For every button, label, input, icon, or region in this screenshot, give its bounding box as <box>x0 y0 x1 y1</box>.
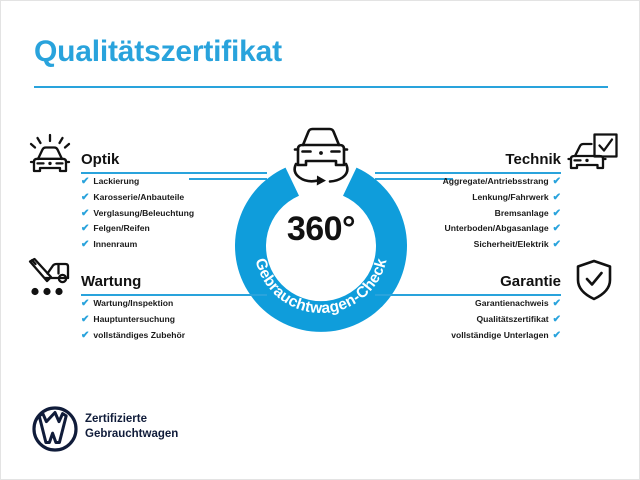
check-icon: ✔ <box>81 221 89 237</box>
list-item: Sicherheit/Elektrik✔ <box>375 237 561 253</box>
section-optik-header: Optik <box>81 144 267 174</box>
list-item-label: vollständiges Zubehör <box>93 330 185 340</box>
check-icon: ✔ <box>81 206 89 222</box>
section-optik: Optik ✔Lackierung ✔Karosserie/Anbauteile… <box>81 144 267 253</box>
section-wartung-header: Wartung <box>81 266 267 296</box>
check-icon: ✔ <box>81 237 89 253</box>
check-icon: ✔ <box>553 296 561 312</box>
check-icon: ✔ <box>553 190 561 206</box>
footer-brand: Zertifizierte Gebrauchtwagen <box>32 406 78 457</box>
list-item-label: Sicherheit/Elektrik <box>474 239 549 249</box>
check-icon: ✔ <box>81 328 89 344</box>
section-garantie-header: Garantie <box>375 266 561 296</box>
section-wartung: Wartung ✔Wartung/Inspektion ✔Hauptunters… <box>81 266 267 343</box>
section-optik-list: ✔Lackierung ✔Karosserie/Anbauteile ✔Verg… <box>81 174 267 253</box>
section-garantie-title: Garantie <box>500 273 561 290</box>
shield-check-icon <box>573 258 615 302</box>
section-wartung-list: ✔Wartung/Inspektion ✔Hauptuntersuchung ✔… <box>81 296 267 343</box>
section-technik-divider <box>375 172 561 174</box>
list-item: vollständige Unterlagen✔ <box>375 328 561 344</box>
list-item-label: Verglasung/Beleuchtung <box>93 208 194 218</box>
list-item-label: Aggregate/Antriebsstrang <box>443 176 549 186</box>
list-item: ✔Karosserie/Anbauteile <box>81 190 267 206</box>
list-item: ✔Wartung/Inspektion <box>81 296 267 312</box>
section-technik-list: Aggregate/Antriebsstrang✔ Lenkung/Fahrwe… <box>375 174 561 253</box>
list-item: ✔Innenraum <box>81 237 267 253</box>
section-optik-title: Optik <box>81 151 119 168</box>
list-item-label: Innenraum <box>93 239 137 249</box>
check-icon: ✔ <box>553 328 561 344</box>
list-item-label: Lackierung <box>93 176 139 186</box>
check-icon: ✔ <box>81 296 89 312</box>
car-shine-icon <box>25 133 75 175</box>
brand-text-line1: Zertifizierte <box>85 412 178 427</box>
list-item-label: Unterboden/Abgasanlage <box>445 223 549 233</box>
check-icon: ✔ <box>553 206 561 222</box>
check-icon: ✔ <box>553 174 561 190</box>
brand-text-line2: Gebrauchtwagen <box>85 427 178 442</box>
check-icon: ✔ <box>81 190 89 206</box>
section-technik-title: Technik <box>505 151 561 168</box>
list-item-label: Felgen/Reifen <box>93 223 149 233</box>
list-item-label: Karosserie/Anbauteile <box>93 192 184 202</box>
check-icon: ✔ <box>553 221 561 237</box>
list-item-label: Wartung/Inspektion <box>93 298 173 308</box>
list-item: Unterboden/Abgasanlage✔ <box>375 221 561 237</box>
check-icon: ✔ <box>553 237 561 253</box>
car-rotate-360-icon <box>279 122 363 188</box>
list-item: ✔Verglasung/Beleuchtung <box>81 206 267 222</box>
list-item: ✔Hauptuntersuchung <box>81 312 267 328</box>
list-item: Aggregate/Antriebsstrang✔ <box>375 174 561 190</box>
section-optik-divider <box>81 172 267 174</box>
page-title: Qualitätszertifikat <box>34 35 282 69</box>
list-item-label: Hauptuntersuchung <box>93 314 175 324</box>
car-checkbox-icon <box>567 132 619 176</box>
brand-text: Zertifizierte Gebrauchtwagen <box>85 412 178 442</box>
volkswagen-logo <box>32 406 78 452</box>
check-icon: ✔ <box>81 174 89 190</box>
list-item: Lenkung/Fahrwerk✔ <box>375 190 561 206</box>
section-technik-header: Technik <box>375 144 561 174</box>
rotation-arrowhead <box>317 176 326 186</box>
title-divider <box>34 86 608 88</box>
section-wartung-divider <box>81 294 267 296</box>
list-item-label: Qualitätszertifikat <box>476 314 548 324</box>
check-icon: ✔ <box>553 312 561 328</box>
section-garantie: Garantie Garantienachweis✔ Qualitätszert… <box>375 266 561 343</box>
list-item: ✔Lackierung <box>81 174 267 190</box>
section-garantie-divider <box>375 294 561 296</box>
section-technik: Technik Aggregate/Antriebsstrang✔ Lenkun… <box>375 144 561 253</box>
list-item: Garantienachweis✔ <box>375 296 561 312</box>
certificate-page: Qualitätszertifikat Gebrauchtwagen-Check <box>0 0 640 480</box>
list-item: Bremsanlage✔ <box>375 206 561 222</box>
list-item: ✔vollständiges Zubehör <box>81 328 267 344</box>
list-item-label: vollständige Unterlagen <box>451 330 548 340</box>
list-item: ✔Felgen/Reifen <box>81 221 267 237</box>
section-garantie-list: Garantienachweis✔ Qualitätszertifikat✔ v… <box>375 296 561 343</box>
list-item-label: Lenkung/Fahrwerk <box>472 192 548 202</box>
car-wrench-icon <box>25 257 75 303</box>
list-item-label: Bremsanlage <box>495 208 549 218</box>
list-item: Qualitätszertifikat✔ <box>375 312 561 328</box>
list-item-label: Garantienachweis <box>475 298 549 308</box>
check-icon: ✔ <box>81 312 89 328</box>
section-wartung-title: Wartung <box>81 273 141 290</box>
